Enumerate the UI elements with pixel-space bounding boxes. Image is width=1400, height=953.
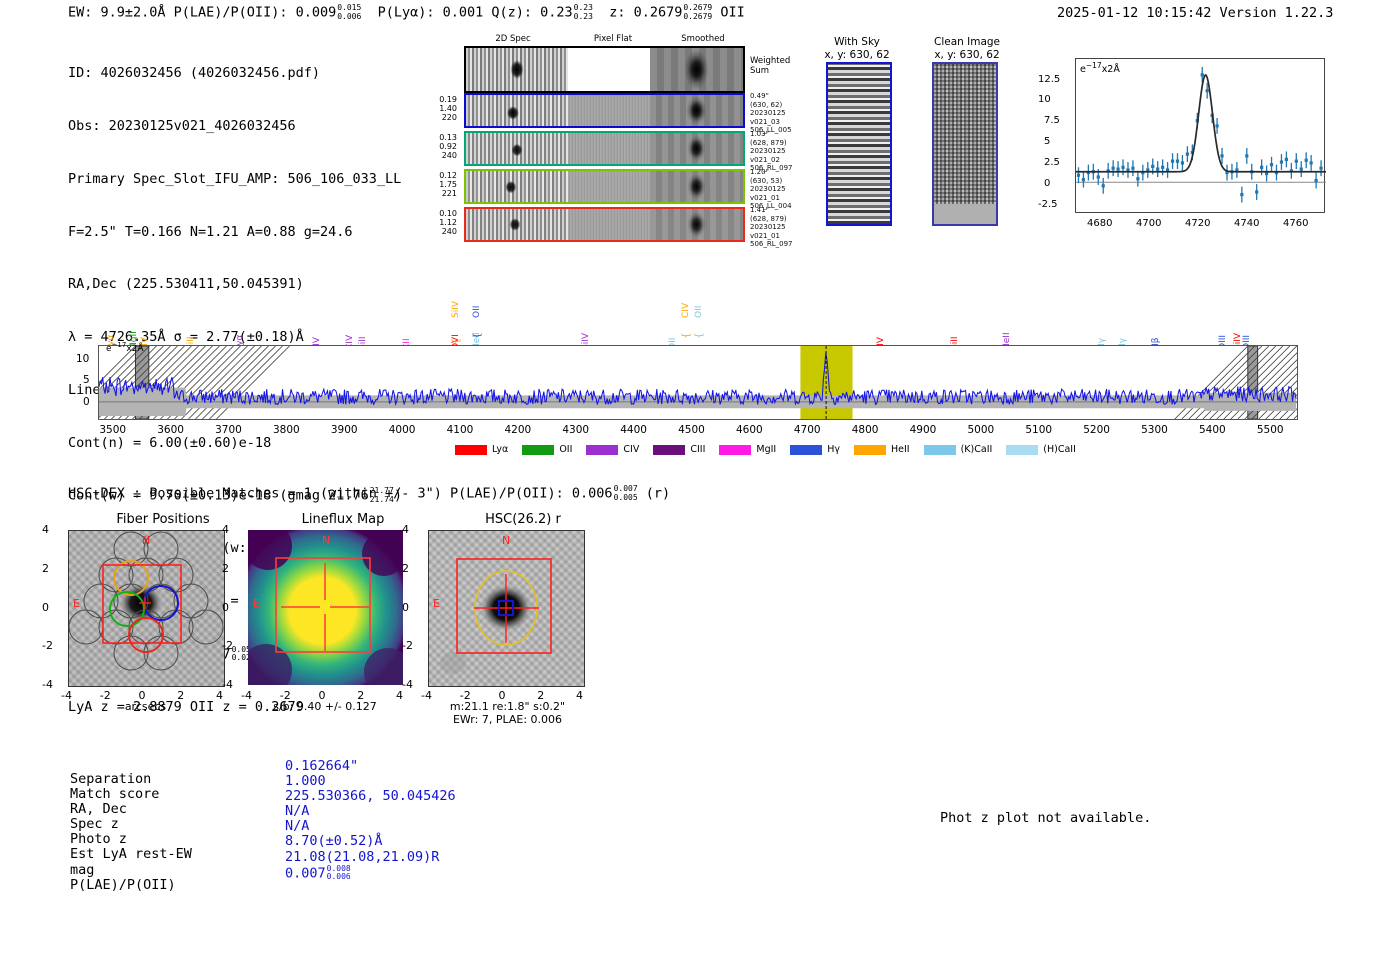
line-marker-bracket: {: [472, 332, 483, 338]
full-spectrum-plot: [98, 345, 1298, 420]
cutout-ytick: 0: [42, 601, 49, 614]
spec2d-fiber-row: [464, 207, 745, 242]
spectrum-xtick: 3700: [215, 424, 242, 436]
cutout-xtick: 0: [319, 689, 326, 702]
lineflux-compass-n: N: [322, 534, 330, 547]
hsc-compass-n: N: [502, 534, 510, 547]
lineflux-map-title: Lineflux Map: [248, 512, 438, 527]
lineplot-ytick: 2.5: [1044, 157, 1060, 168]
match-table-value: 0.162664": [285, 759, 358, 774]
legend-swatch: [1006, 445, 1038, 455]
cutout-ytick: 4: [42, 523, 49, 536]
lineplot-ytick: 0: [1044, 178, 1050, 189]
cell-2dspec-wsum: [466, 48, 568, 91]
cutout-xtick: -2: [100, 689, 111, 702]
lineplot-axes: [1075, 58, 1325, 213]
legend-item: OII: [522, 444, 572, 455]
hsc-image-caption: m:21.1 re:1.8" s:0.2": [420, 700, 595, 713]
spectrum-xtick: 4500: [678, 424, 705, 436]
cutout-xtick: -4: [61, 689, 72, 702]
match-table-row: Photo zN/A: [70, 832, 456, 847]
match-table-key: mag: [70, 863, 285, 878]
spectrum-xtick: 3600: [157, 424, 184, 436]
cutout-ytick: 2: [42, 562, 49, 575]
legend-item: Lyα: [455, 444, 508, 455]
cell-smoothed: [650, 171, 743, 202]
cutout-xtick: 2: [537, 689, 544, 702]
clean-image: [932, 62, 998, 226]
legend-swatch: [790, 445, 822, 455]
legend-item: (K)CaII: [924, 444, 993, 455]
hsc-compass-e: E: [433, 597, 440, 610]
fiber-positions-svg: [69, 531, 224, 686]
lineplot-xtick: 4700: [1136, 218, 1161, 229]
line-marker-label: OII: [472, 306, 482, 318]
cell-2dspec: [466, 133, 568, 164]
match-table-row: RA, Dec225.530366, 50.045426: [70, 802, 456, 817]
header-z: z: 0.2679: [609, 5, 682, 21]
lineplot-ytick: -2.5: [1038, 199, 1058, 210]
match-table-row: P(LAE)/P(OII)0.0070.0080.006: [70, 878, 456, 893]
spectrum-xtick: 3500: [99, 424, 126, 436]
line-marker-label: SiIV: [451, 301, 461, 318]
spectrum-ytick: 10: [76, 353, 89, 365]
match-table-key: Est LyA rest-EW: [70, 847, 285, 862]
legend-label: MgII: [756, 444, 776, 455]
match-table-value: 21.08(21.08,21.09)R: [285, 850, 439, 865]
match-table-key: Separation: [70, 772, 285, 787]
spec2d-row-right-3: 1.20"(630, 53)20230125v021_01506_LL_004: [750, 168, 810, 211]
cutout-ytick: 0: [402, 601, 409, 614]
legend-label: (H)CaII: [1043, 444, 1076, 455]
fiber-positions-title: Fiber Positions: [68, 512, 258, 527]
legend-item: CIII: [653, 444, 705, 455]
match-table-row: Spec zN/A: [70, 817, 456, 832]
with-sky-image: [826, 62, 892, 226]
spectrum-ytick: 0: [83, 396, 90, 408]
cell-pixelflat: [568, 209, 650, 240]
spectrum-xtick: 5300: [1141, 424, 1168, 436]
cutout-xtick: 2: [357, 689, 364, 702]
fiber-positions-image: [68, 530, 225, 687]
match-table-key: Match score: [70, 787, 285, 802]
legend-item: (H)CaII: [1006, 444, 1076, 455]
header-ew-plae: EW: 9.9±2.0Å P(LAE)/P(OII): 0.009: [68, 5, 336, 21]
legend-label: Hγ: [827, 444, 840, 455]
lineflux-map-svg: [248, 530, 403, 685]
legend-label: CIV: [623, 444, 639, 455]
spec2d-row-right-1: 0.49"(630, 62)20230125v021_03506_LL_005: [750, 92, 810, 135]
info-line-seeing: F=2.5" T=0.166 N=1.21 A=0.88 g=24.6: [68, 224, 402, 242]
spec2d-row-left-3: 0.121.75221: [425, 171, 457, 199]
lineplot-svg: [1076, 59, 1326, 214]
cutout-ytick: -4: [222, 678, 233, 691]
cutout-xtick: 4: [576, 689, 583, 702]
lineplot-xtick: 4760: [1283, 218, 1308, 229]
match-table-value: 0.0070.0080.006: [285, 865, 351, 882]
weighted-sum-label: WeightedSum: [750, 56, 790, 76]
spectrum-xtick: 4800: [852, 424, 879, 436]
hsc-image-title: HSC(26.2) r: [428, 512, 618, 527]
cell-pixelflat-wsum: [568, 48, 650, 91]
spectrum-xtick: 4000: [389, 424, 416, 436]
lineflux-compass-e: E: [253, 597, 260, 610]
match-table-value: 225.530366, 50.045426: [285, 789, 456, 804]
info-line-radec: RA,Dec (225.530411,50.045391): [68, 276, 402, 294]
lineplot-ytick: 5: [1044, 136, 1050, 147]
match-table-value: N/A: [285, 804, 309, 819]
legend-label: (K)CaII: [961, 444, 993, 455]
legend-label: CIII: [690, 444, 705, 455]
cutout-ytick: 2: [222, 562, 229, 575]
spec2d-fiber-row: [464, 93, 745, 128]
lineplot-ytick: 10: [1038, 94, 1051, 105]
col-title-2dspec: 2D Spec: [478, 34, 548, 44]
cutout-xtick: -4: [241, 689, 252, 702]
cutout-ytick: -4: [42, 678, 53, 691]
cell-pixelflat: [568, 95, 650, 126]
cutout-ytick: 2: [402, 562, 409, 575]
spectrum-xtick: 3800: [273, 424, 300, 436]
info-line-cont-n: Cont(n) = 6.00(±0.60)e-18: [68, 435, 402, 453]
lineplot-ytick: 12.5: [1038, 74, 1060, 85]
spectrum-xtick: 4900: [910, 424, 937, 436]
legend-label: OII: [559, 444, 572, 455]
spectrum-xtick: 5400: [1199, 424, 1226, 436]
fiber-compass-n: N: [142, 534, 150, 547]
cutout-xtick: -2: [460, 689, 471, 702]
match-table-value-errors: 0.0080.006: [327, 865, 351, 882]
with-sky-title: With Skyx, y: 630, 62: [812, 36, 902, 61]
spec2d-fiber-row: [464, 131, 745, 166]
match-table-key: RA, Dec: [70, 802, 285, 817]
legend-swatch: [719, 445, 751, 455]
legend-swatch: [653, 445, 685, 455]
hsc-image-caption2: EWr: 7, PLAE: 0.006: [420, 713, 595, 726]
legend-item: HeII: [854, 444, 910, 455]
spectrum-xtick: 4300: [562, 424, 589, 436]
header-summary: EW: 9.9±2.0Å P(LAE)/P(OII): 0.0090.0150.…: [68, 4, 745, 21]
spectrum-xtick: 4200: [504, 424, 531, 436]
header-plya-qz: P(Lyα): 0.001 Q(z): 0.23: [378, 5, 573, 21]
cell-pixelflat: [568, 133, 650, 164]
cutout-xtick: -2: [280, 689, 291, 702]
cutout-xtick: 0: [499, 689, 506, 702]
lineplot-xtick: 4720: [1185, 218, 1210, 229]
line-marker-bracket: {: [694, 332, 705, 338]
cell-smoothed: [650, 95, 743, 126]
lineflux-map-image: [248, 530, 403, 685]
spec2d-fiber-row: [464, 169, 745, 204]
match-table-key: Photo z: [70, 832, 285, 847]
legend-swatch: [586, 445, 618, 455]
fiber-positions-caption: arcsecs: [68, 700, 223, 713]
line-marker-label: CIV: [681, 303, 691, 318]
fiber-compass-e: E: [73, 597, 80, 610]
match-table-row: mag21.08(21.08,21.09)R: [70, 863, 456, 878]
lineplot-ytick: 7.5: [1044, 115, 1060, 126]
cell-smoothed-wsum: [650, 48, 743, 91]
spectrum-xtick: 4700: [794, 424, 821, 436]
legend-swatch: [455, 445, 487, 455]
spectrum-legend: LyαOIICIVCIIIMgIIHγHeII(K)CaII(H)CaII: [455, 444, 1090, 455]
z-errors: 0.26790.2679: [683, 4, 712, 21]
spec2d-row-left-4: 0.101.12240: [425, 209, 457, 237]
info-line-id: ID: 4026032456 (4026032456.pdf): [68, 65, 402, 83]
clean-image-title: Clean Imagex, y: 630, 62: [912, 36, 1022, 61]
info-line-obs: Obs: 20230125v021_4026032456: [68, 118, 402, 136]
line-marker-bracket: {: [681, 332, 692, 338]
spectrum-xtick: 4400: [620, 424, 647, 436]
match-table-value: 8.70(±0.52)Å: [285, 834, 383, 849]
lineplot-xtick: 4740: [1234, 218, 1259, 229]
cell-2dspec: [466, 95, 568, 126]
cutout-ytick: -2: [402, 639, 413, 652]
match-table: Separation0.162664"Match score1.000RA, D…: [70, 772, 456, 893]
legend-item: CIV: [586, 444, 639, 455]
legend-swatch: [854, 445, 886, 455]
qz-errors: 0.230.23: [574, 4, 593, 21]
cell-smoothed: [650, 133, 743, 164]
spectrum-xtick: 4100: [447, 424, 474, 436]
cell-2dspec: [466, 209, 568, 240]
line-marker-bracket: {: [451, 338, 462, 344]
plae-errors: 0.0150.006: [337, 4, 361, 21]
hsc-dex-headline: HSC-DEX : Possible Matches = 1 (within +…: [68, 485, 670, 502]
cutout-ytick: -4: [402, 678, 413, 691]
cutout-ytick: -2: [222, 639, 233, 652]
spectrum-xtick: 3900: [331, 424, 358, 436]
lineplot-xtick: 4680: [1087, 218, 1112, 229]
match-table-row: Separation0.162664": [70, 772, 456, 787]
spectrum-xtick: 4600: [736, 424, 763, 436]
cutout-xtick: 0: [139, 689, 146, 702]
spectrum-unit-annotation: e−17x2Å: [106, 341, 144, 354]
legend-label: HeII: [891, 444, 910, 455]
cutout-ytick: 4: [222, 523, 229, 536]
info-line-slot: Primary Spec_Slot_IFU_AMP: 506_106_033_L…: [68, 171, 402, 189]
hsc-image-svg: [429, 531, 584, 686]
emission-line-plot: e−17x2Å 12.5 10 7.5 5 2.5 0 -2.5 4680 47…: [1030, 40, 1330, 250]
cell-2dspec: [466, 171, 568, 202]
cell-pixelflat: [568, 171, 650, 202]
cutout-xtick: -4: [421, 689, 432, 702]
cutout-ytick: -2: [42, 639, 53, 652]
lineplot-unit-annotation: e−17x2Å: [1080, 61, 1120, 75]
match-table-value: 1.000: [285, 774, 326, 789]
legend-item: MgII: [719, 444, 776, 455]
legend-label: Lyα: [492, 444, 508, 455]
spectrum-xtick: 5500: [1257, 424, 1284, 436]
spectrum-ytick: 5: [83, 374, 90, 386]
match-table-key: Spec z: [70, 817, 285, 832]
spectrum-xtick: 5100: [1025, 424, 1052, 436]
spec2d-row-left-2: 0.130.92240: [425, 133, 457, 161]
photz-note: Phot z plot not available.: [940, 810, 1151, 826]
cutout-ytick: 4: [402, 523, 409, 536]
spectrum-xtick: 5200: [1083, 424, 1110, 436]
line-marker-label: OII: [694, 306, 704, 318]
spec2d-weighted-sum-row: [464, 46, 745, 93]
cutout-xtick: 2: [177, 689, 184, 702]
legend-swatch: [522, 445, 554, 455]
col-title-smoothed: Smoothed: [668, 34, 738, 44]
legend-item: Hγ: [790, 444, 840, 455]
full-spectrum-svg: [99, 346, 1297, 419]
spec2d-row-right-4: 1.41"(628, 879)20230125v021_01506_RL_097: [750, 206, 810, 249]
col-title-pixelflat: Pixel Flat: [578, 34, 648, 44]
spec2d-row-right-2: 1.03"(628, 879)20230125v021_02506_RL_097: [750, 130, 810, 173]
cell-smoothed: [650, 209, 743, 240]
cutout-ytick: 0: [222, 601, 229, 614]
hsc-image: [428, 530, 585, 687]
spec2d-row-left-1: 0.191.40220: [425, 95, 457, 123]
timestamp-version: 2025-01-12 10:15:42 Version 1.22.3: [1057, 5, 1333, 21]
match-table-key: P(LAE)/P(OII): [70, 878, 285, 893]
legend-swatch: [924, 445, 956, 455]
header-class: OII: [720, 5, 744, 21]
spectrum-xtick: 5000: [967, 424, 994, 436]
